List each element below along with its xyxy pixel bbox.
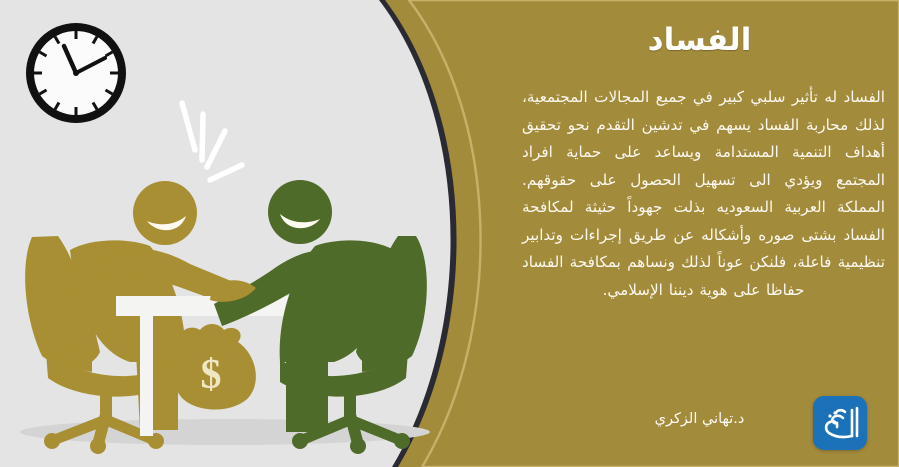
alriyadh-newspaper-logo[interactable]	[813, 396, 867, 450]
wall-clock-icon	[26, 23, 126, 123]
logo-mark-icon	[813, 396, 867, 450]
article-body: الفساد له تأثير سلبي كبير في جميع المجال…	[522, 84, 885, 304]
impact-burst-lines	[182, 103, 242, 180]
money-bag-dollar-sign: $	[201, 352, 222, 398]
money-bag-icon: $	[172, 324, 255, 410]
bribery-scene-illustration: $	[0, 0, 470, 467]
poster-canvas: $	[0, 0, 899, 467]
page-title: الفساد	[500, 22, 899, 58]
illustration-area: $	[0, 0, 470, 467]
